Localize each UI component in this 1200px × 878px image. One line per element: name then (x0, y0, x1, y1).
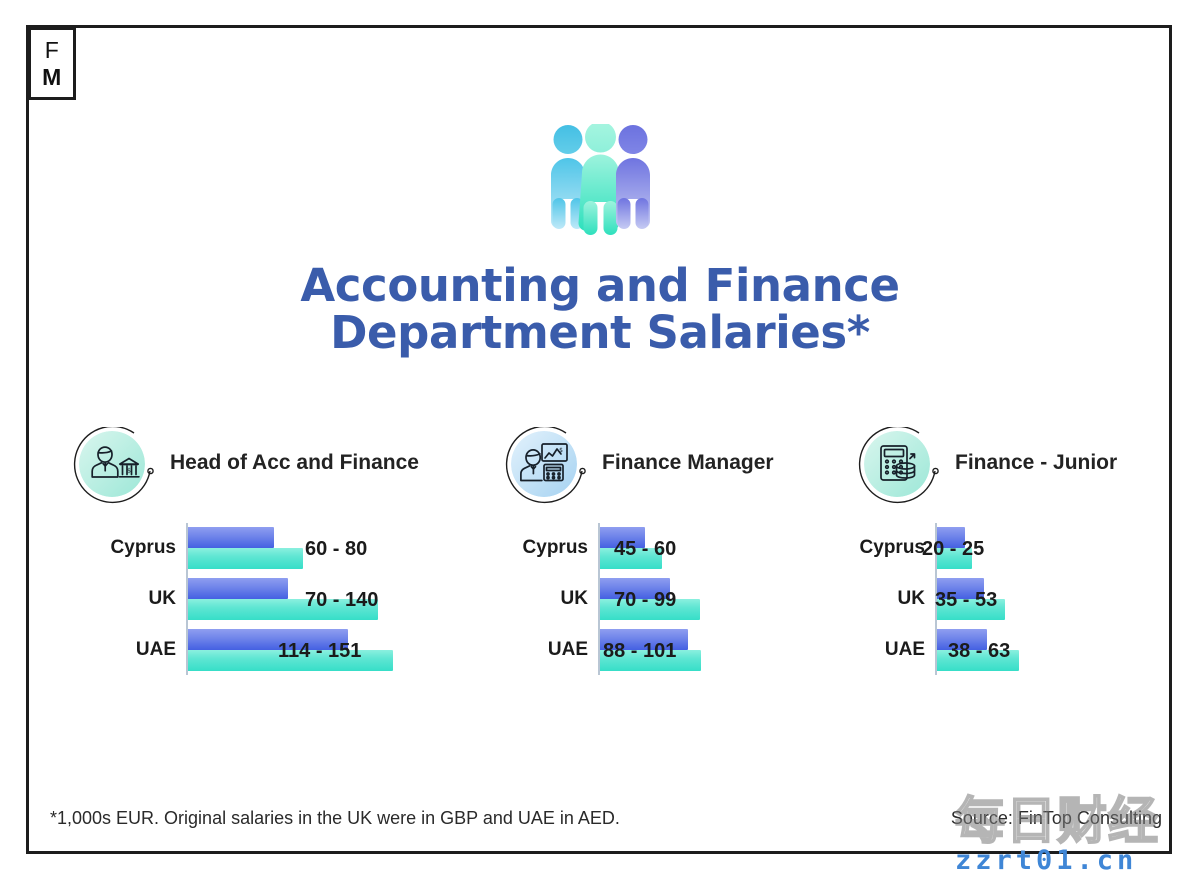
bar-chart: Cyprus 20 - 25 UK 35 - 53 UAE (850, 517, 1160, 687)
row-label: UK (497, 588, 588, 610)
chart-panel-finance-junior: Finance - Junior Cyprus 20 - 25 UK 35 - … (850, 425, 1160, 687)
panel-title: Finance - Junior (955, 451, 1117, 475)
svg-text:$: $ (559, 447, 563, 454)
row-value: 60 - 80 (305, 538, 367, 561)
panel-title: Head of Acc and Finance (170, 451, 419, 475)
row-value: 45 - 60 (614, 538, 676, 561)
bar-chart: Cyprus 60 - 80 UK 70 - 140 UAE (65, 517, 465, 687)
businessperson-bank-icon: $ (73, 427, 161, 515)
chart-panel-finance-manager: $ Finance Manager (497, 425, 847, 687)
panel-header: $ Head of Acc and Finance (65, 425, 465, 517)
brand-logo: F M (28, 27, 76, 100)
page-title: Accounting and Finance Department Salari… (0, 262, 1200, 356)
footnote: *1,000s EUR. Original salaries in the UK… (50, 808, 620, 829)
row-value: 114 - 151 (278, 640, 361, 663)
row-bars (188, 527, 303, 569)
calculator-coins-icon (858, 427, 946, 515)
row-value: 70 - 140 (305, 589, 378, 612)
page-title-line1: Accounting and Finance (0, 262, 1200, 309)
panel-header: $ Finance Manager (497, 425, 847, 517)
svg-text:$: $ (127, 468, 131, 475)
bar-max (188, 548, 303, 569)
row-value: 20 - 25 (922, 538, 984, 561)
three-people-icon (543, 124, 658, 246)
row-label: UK (65, 588, 176, 610)
row-value: 88 - 101 (603, 640, 676, 663)
charts-row: $ Head of Acc and Finance Cyprus 60 - 80… (50, 425, 1160, 695)
logo-letter-m: M (42, 64, 62, 91)
page-title-line2: Department Salaries* (0, 309, 1200, 356)
row-label: Cyprus (65, 537, 176, 559)
bar-min (188, 578, 288, 599)
row-value: 38 - 63 (948, 640, 1010, 663)
row-label: UAE (65, 639, 176, 661)
logo-letter-f: F (45, 37, 60, 64)
row-label: Cyprus (850, 537, 925, 559)
bar-chart: Cyprus 45 - 60 UK 70 - 99 UAE (497, 517, 847, 687)
panel-title: Finance Manager (602, 451, 774, 475)
row-label: UAE (850, 639, 925, 661)
bar-min (188, 527, 274, 548)
panel-header: Finance - Junior (850, 425, 1160, 517)
row-label: UK (850, 588, 925, 610)
row-value: 35 - 53 (935, 589, 997, 612)
source-credit: Source: FinTop Consulting (951, 808, 1162, 829)
row-label: Cyprus (497, 537, 588, 559)
row-label: UAE (497, 639, 588, 661)
analyst-chart-calculator-icon: $ (505, 427, 593, 515)
row-value: 70 - 99 (614, 589, 676, 612)
chart-panel-head-of-acc-and-finance: $ Head of Acc and Finance Cyprus 60 - 80… (65, 425, 465, 687)
